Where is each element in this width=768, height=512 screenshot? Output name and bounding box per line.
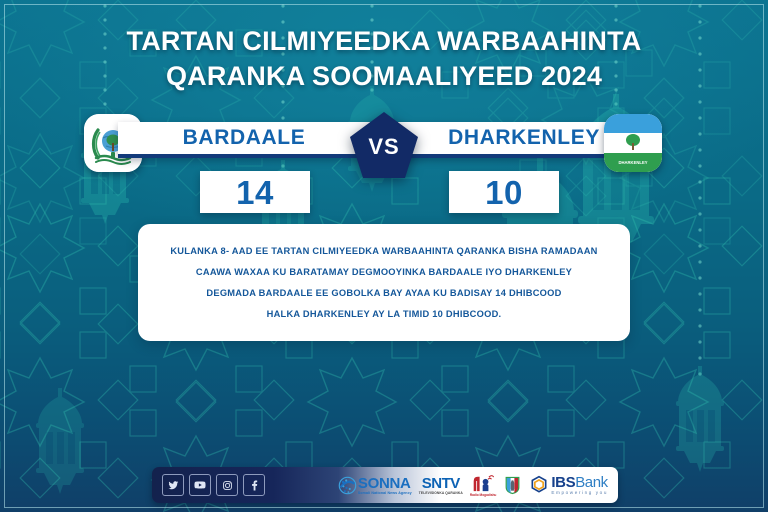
ibs-light: Bank [575, 474, 608, 491]
ministry-crest-logo[interactable] [503, 476, 522, 495]
ibs-bank-name: IBSBank [551, 475, 607, 490]
home-score: 14 [236, 176, 274, 209]
away-score: 10 [485, 176, 523, 209]
radio-tagline: Radio Mogadishu [470, 493, 497, 497]
scoreboard: BARDAALE VS DHARKENLEY DHARKENLEY [0, 108, 768, 223]
sponsor-logos-group: SONNA Somali National News Agency SNTV T… [338, 474, 618, 497]
sntv-name: SNTV [422, 476, 460, 491]
twitter-icon[interactable] [162, 474, 184, 496]
summary-line: CAAWA WAXAA KU BARATAMAY DEGMOOYINKA BAR… [154, 262, 614, 283]
summary-line: DEGMADA BARDAALE EE GOBOLKA BAY AYAA KU … [154, 283, 614, 304]
sonna-mark [338, 476, 357, 495]
away-team-name: DHARKENLEY [448, 126, 600, 150]
away-team-badge: DHARKENLEY [604, 114, 662, 172]
away-badge-caption: DHARKENLEY [618, 160, 647, 165]
home-team-name-band: BARDAALE [118, 122, 370, 158]
poster-title: TARTAN CILMIYEEDKA WARBAAHINTA QARANKA S… [0, 24, 768, 93]
home-team-name: BARDAALE [183, 126, 306, 150]
facebook-icon[interactable] [243, 474, 265, 496]
radio-mogadishu-logo[interactable]: Radio Mogadishu [470, 474, 497, 497]
instagram-icon[interactable] [216, 474, 238, 496]
footer-sponsor-bar: SONNA Somali National News Agency SNTV T… [152, 467, 618, 503]
radio-mogadishu-mark [472, 474, 494, 493]
ibs-bank-mark [529, 475, 549, 495]
match-summary-card: KULANKA 8- AAD EE TARTAN CILMIYEEDKA WAR… [138, 224, 630, 341]
ibs-bank-logo[interactable]: IBSBank Empowering you [529, 475, 608, 495]
youtube-icon[interactable] [189, 474, 211, 496]
sntv-tagline: TELEVISIONKA QARANKA [419, 491, 463, 495]
sonna-name: SONNA [358, 476, 411, 491]
home-score-box: 14 [200, 171, 310, 213]
ibs-tagline: Empowering you [551, 490, 608, 495]
sonna-tagline: Somali National News Agency [358, 491, 412, 495]
away-score-box: 10 [449, 171, 559, 213]
sntv-logo[interactable]: SNTV TELEVISIONKA QARANKA [419, 476, 463, 495]
poster-canvas: TARTAN CILMIYEEDKA WARBAAHINTA QARANKA S… [0, 0, 768, 512]
summary-line: KULANKA 8- AAD EE TARTAN CILMIYEEDKA WAR… [154, 241, 614, 262]
title-line-2: QARANKA SOOMAALIYEED 2024 [0, 59, 768, 94]
ministry-crest-mark [503, 476, 522, 495]
sonna-logo[interactable]: SONNA Somali National News Agency [338, 476, 412, 495]
summary-line: HALKA DHARKENLEY AY LA TIMID 10 DHIBCOOD… [154, 304, 614, 325]
social-links-group [152, 474, 265, 496]
vs-pentagon: VS [348, 110, 420, 182]
ibs-bold: IBS [551, 474, 575, 491]
title-line-1: TARTAN CILMIYEEDKA WARBAAHINTA [127, 26, 642, 56]
